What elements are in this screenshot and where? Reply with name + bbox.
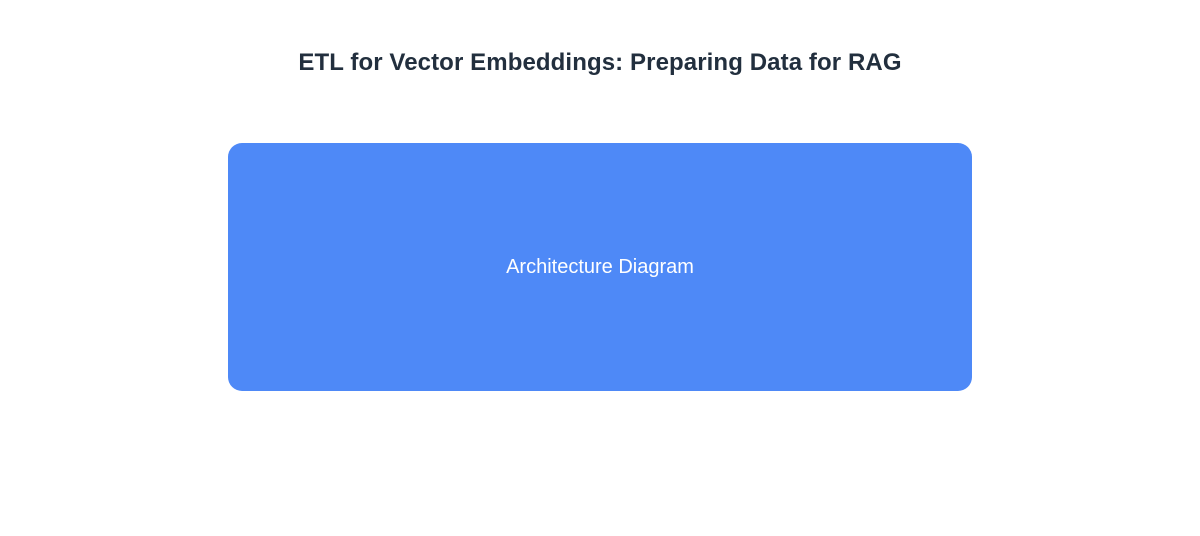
architecture-diagram-placeholder[interactable]: Architecture Diagram bbox=[228, 143, 972, 391]
page-title: ETL for Vector Embeddings: Preparing Dat… bbox=[0, 47, 1200, 79]
architecture-diagram-label: Architecture Diagram bbox=[506, 254, 694, 280]
slide-canvas: ETL for Vector Embeddings: Preparing Dat… bbox=[0, 0, 1200, 536]
